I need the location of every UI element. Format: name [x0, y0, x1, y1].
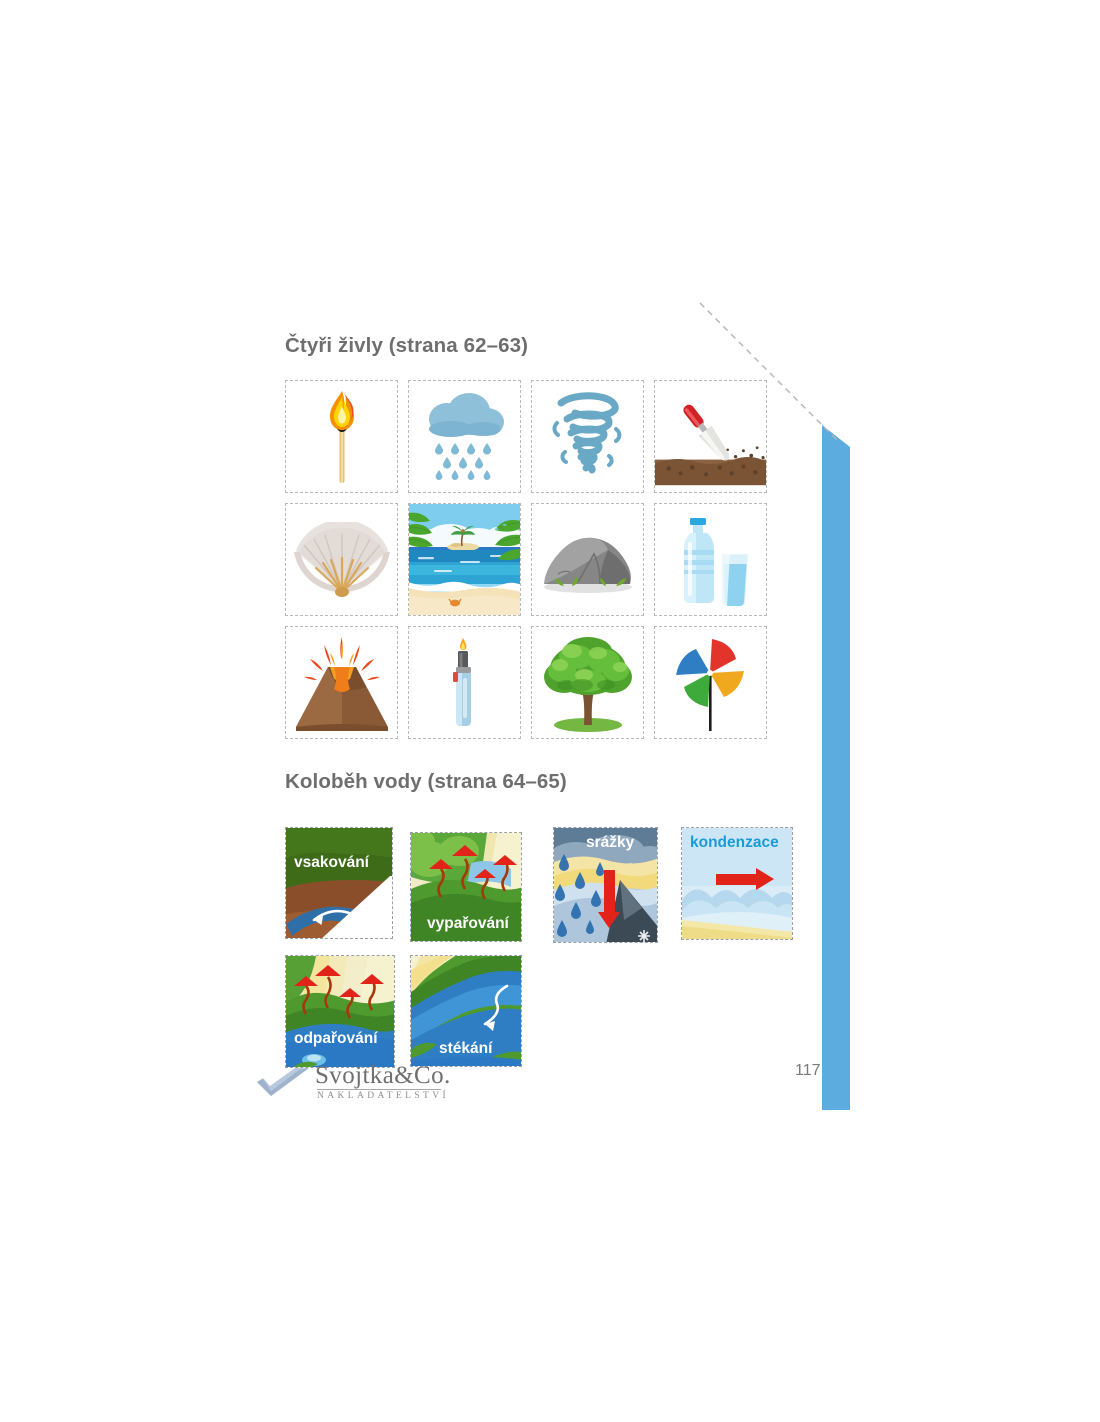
page-accent-bar	[822, 425, 850, 1110]
card-hand-fan[interactable]	[285, 503, 398, 616]
card-burning-match[interactable]	[285, 380, 398, 493]
publisher-logo: Svojtka&Co. NAKLADATELSTVÍ	[255, 1060, 445, 1112]
card-pinwheel[interactable]	[654, 626, 767, 739]
card-lighter-flame[interactable]	[408, 626, 521, 739]
card-label-stekani: stékání	[439, 1040, 492, 1058]
card-stekani[interactable]: stékání	[410, 955, 522, 1067]
checkmark-logo-icon	[255, 1066, 311, 1100]
card-beach-sea[interactable]	[408, 503, 521, 616]
worksheet-page: K ROZSTŘÍHÁNÍ Čtyři živly (strana 62–63)	[0, 0, 1100, 1422]
card-trowel-soil[interactable]	[654, 380, 767, 493]
card-rock-stone[interactable]	[531, 503, 644, 616]
card-vsakovani[interactable]: vsakování	[285, 827, 393, 939]
card-label-odparovani: odpařování	[294, 1030, 378, 1048]
card-odparovani[interactable]: odpařování	[285, 955, 395, 1068]
card-row	[285, 380, 777, 503]
section-heading-water-cycle: Koloběh vody (strana 64–65)	[285, 770, 567, 794]
section-heading-four-elements: Čtyři živly (strana 62–63)	[285, 334, 528, 358]
publisher-subtitle: NAKLADATELSTVÍ	[317, 1091, 449, 1101]
card-kondenzace[interactable]: kondenzace	[681, 827, 793, 940]
card-row	[285, 626, 777, 749]
card-srazky[interactable]: srážky	[553, 827, 658, 943]
card-label-vsakovani: vsakování	[294, 854, 369, 872]
card-tree[interactable]	[531, 626, 644, 739]
card-label-kondenzace: kondenzace	[690, 834, 779, 852]
card-row	[285, 503, 777, 626]
card-label-vyparovani: vypařování	[427, 915, 509, 933]
publisher-name: Svojtka&Co.	[315, 1062, 451, 1090]
card-rain-cloud[interactable]	[408, 380, 521, 493]
card-water-bottle-glass[interactable]	[654, 503, 767, 616]
card-vyparovani[interactable]: vypařování	[410, 832, 522, 942]
card-label-srazky: srážky	[586, 834, 634, 852]
four-elements-card-grid	[285, 380, 777, 749]
card-tornado[interactable]	[531, 380, 644, 493]
page-number: 117	[795, 1062, 821, 1080]
logo-divider	[317, 1089, 441, 1090]
card-volcano[interactable]	[285, 626, 398, 739]
